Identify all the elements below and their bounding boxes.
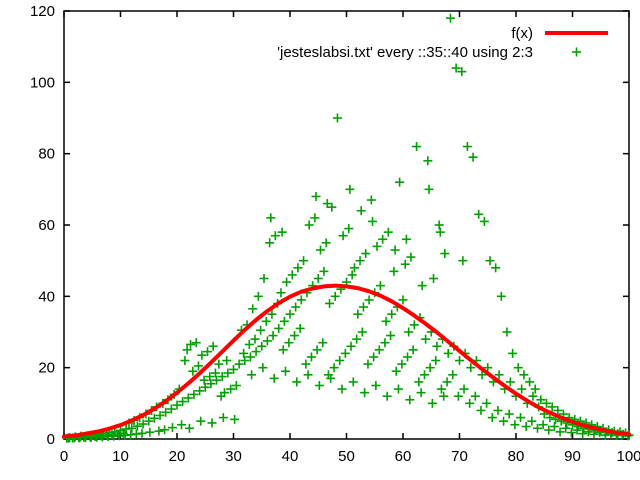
x-tick-label: 60 (395, 448, 412, 465)
gnuplot-graph-window: 020406080100120 0102030405060708090100 f… (0, 0, 640, 480)
x-tick-label: 100 (616, 448, 640, 465)
y-tick-label: 80 (38, 146, 55, 163)
x-tick-label: 0 (60, 448, 68, 465)
x-tick-label: 30 (225, 448, 242, 465)
y-tick-label: 120 (30, 3, 55, 20)
x-tick-label: 20 (169, 448, 186, 465)
x-tick-label: 70 (451, 448, 468, 465)
y-tick-label: 40 (38, 288, 55, 305)
legend-entry-label: 'jesteslabsi.txt' every ::35::40 using 2… (277, 44, 533, 61)
y-tick-label: 100 (30, 74, 55, 91)
y-tick-label: 60 (38, 217, 55, 234)
x-tick-label: 40 (282, 448, 299, 465)
plot-canvas: 020406080100120 0102030405060708090100 f… (0, 0, 640, 480)
legend-entry-label: f(x) (511, 25, 533, 42)
y-tick-label: 0 (47, 431, 55, 448)
x-tick-label: 90 (564, 448, 581, 465)
x-tick-label: 10 (112, 448, 129, 465)
x-tick-label: 50 (338, 448, 355, 465)
x-tick-label: 80 (508, 448, 525, 465)
y-tick-label: 20 (38, 360, 55, 377)
